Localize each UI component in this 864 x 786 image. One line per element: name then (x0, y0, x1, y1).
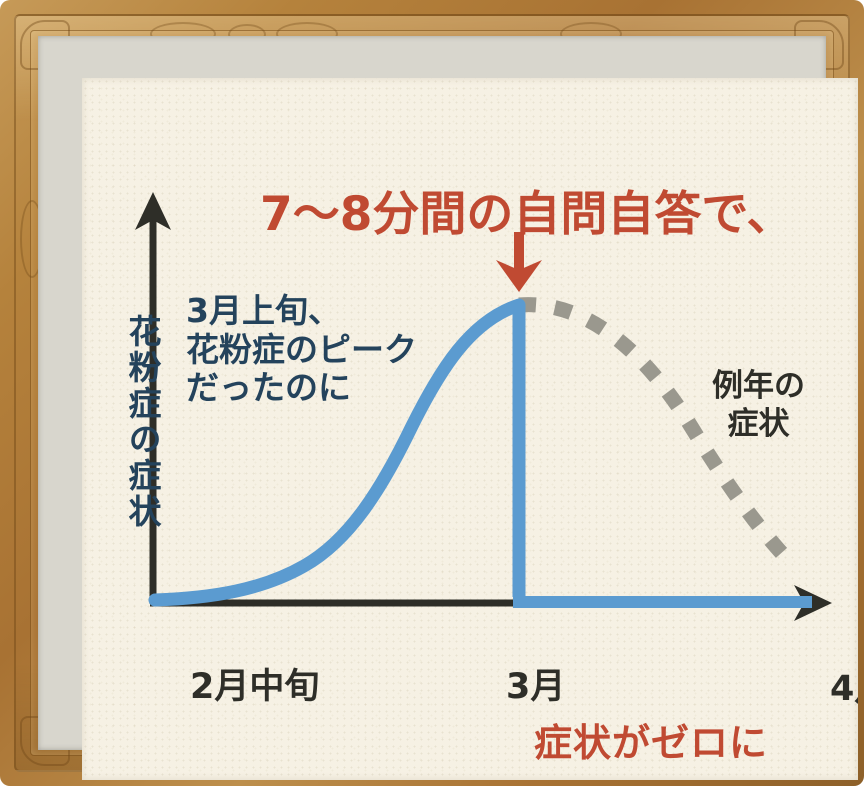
annotation-zero-symptoms: 症状がゼロに (534, 712, 768, 767)
y-axis-label: 花粉症の症状 (126, 314, 159, 530)
picture-frame: 7〜8分間の自問自答で、 3月上旬、 花粉症のピーク だったのに 例年の 症状 … (0, 0, 864, 786)
annotation-typical-year-label: 例年の 症状 (712, 368, 805, 444)
frame-mat: 7〜8分間の自問自答で、 3月上旬、 花粉症のピーク だったのに 例年の 症状 … (38, 36, 826, 750)
annotation-peak-note: 3月上旬、 花粉症のピーク だったのに (186, 292, 417, 408)
chart-canvas: 7〜8分間の自問自答で、 3月上旬、 花粉症のピーク だったのに 例年の 症状 … (82, 78, 858, 780)
headline-text: 7〜8分間の自問自答で、 (260, 190, 794, 239)
x-tick-label-1: 3月 (506, 658, 565, 709)
x-tick-label-0: 2月中旬 (190, 658, 319, 709)
x-tick-label-2: 4月 (830, 660, 858, 711)
